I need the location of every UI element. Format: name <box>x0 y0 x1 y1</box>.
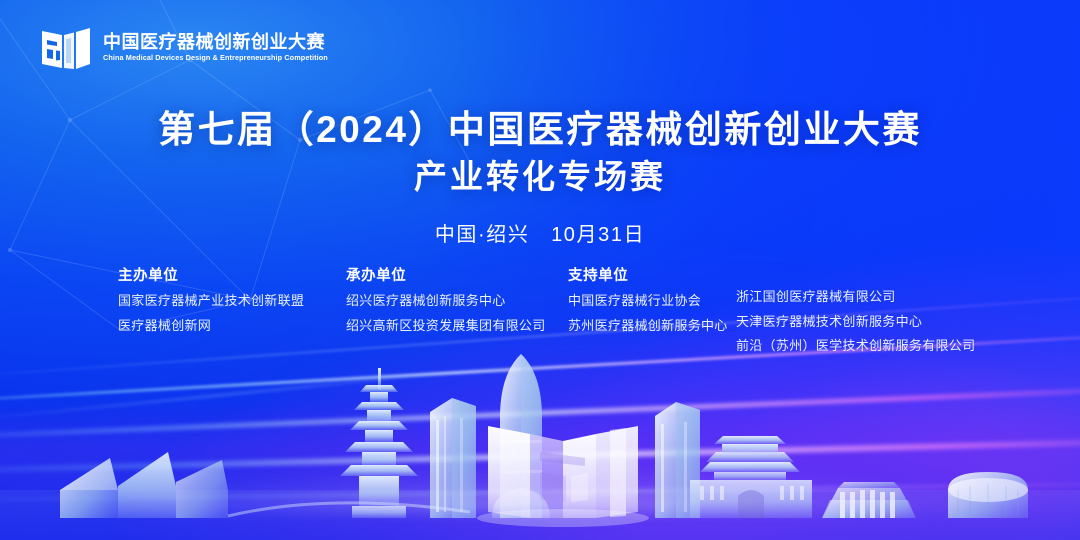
logo-chinese-name: 中国医疗器械创新创业大赛 <box>103 33 335 52</box>
organizer-item: 前沿（苏州）医学技术创新服务有限公司 <box>736 339 975 353</box>
organizer-item: 医疗器械创新网 <box>118 319 346 333</box>
organizer-item: 绍兴高新区投资发展集团有限公司 <box>346 319 568 333</box>
organizer-item: 国家医疗器械产业技术创新联盟 <box>118 294 346 308</box>
event-banner: 中国医疗器械创新创业大赛 China Medical Devices Desig… <box>0 0 1080 540</box>
organizer-item: 绍兴医疗器械创新服务中心 <box>346 294 568 308</box>
organizer-column-host: 主办单位 国家医疗器械产业技术创新联盟 医疗器械创新网 <box>118 264 346 332</box>
organizer-column-undertaker: 承办单位 绍兴医疗器械创新服务中心 绍兴高新区投资发展集团有限公司 <box>346 264 568 332</box>
organizer-item: 苏州医疗器械创新服务中心 <box>568 319 736 333</box>
organizer-heading: 支持单位 <box>568 264 736 285</box>
event-title-main: 第七届（2024）中国医疗器械创新创业大赛 <box>0 106 1080 153</box>
organizer-heading: 主办单位 <box>118 264 346 285</box>
organizer-item: 浙江国创医疗器械有限公司 <box>736 290 975 304</box>
organizer-item: 天津医疗器械技术创新服务中心 <box>736 315 975 329</box>
ground-haze <box>0 450 1080 512</box>
open-book-door-logo-icon <box>40 23 92 72</box>
event-title-sub: 产业转化专场赛 <box>0 155 1080 199</box>
logo-english-name: China Medical Devices Design & Entrepren… <box>103 54 328 62</box>
organizer-heading: 承办单位 <box>346 264 568 285</box>
event-location-date: 中国·绍兴 10月31日 <box>0 218 1080 247</box>
title-block: 第七届（2024）中国医疗器械创新创业大赛 产业转化专场赛 中国·绍兴 10月3… <box>0 106 1080 247</box>
organizer-section: 主办单位 国家医疗器械产业技术创新联盟 医疗器械创新网 承办单位 绍兴医疗器械创… <box>118 264 988 353</box>
organizer-item: 中国医疗器械行业协会 <box>568 294 736 308</box>
organizer-column-supporter: 支持单位 中国医疗器械行业协会 苏州医疗器械创新服务中心 <box>568 264 736 332</box>
organizer-column-supporter-overflow: 浙江国创医疗器械有限公司 天津医疗器械技术创新服务中心 前沿（苏州）医学技术创新… <box>736 264 975 353</box>
competition-logo: 中国医疗器械创新创业大赛 China Medical Devices Desig… <box>40 23 335 72</box>
logo-text-block: 中国医疗器械创新创业大赛 China Medical Devices Desig… <box>103 33 335 62</box>
